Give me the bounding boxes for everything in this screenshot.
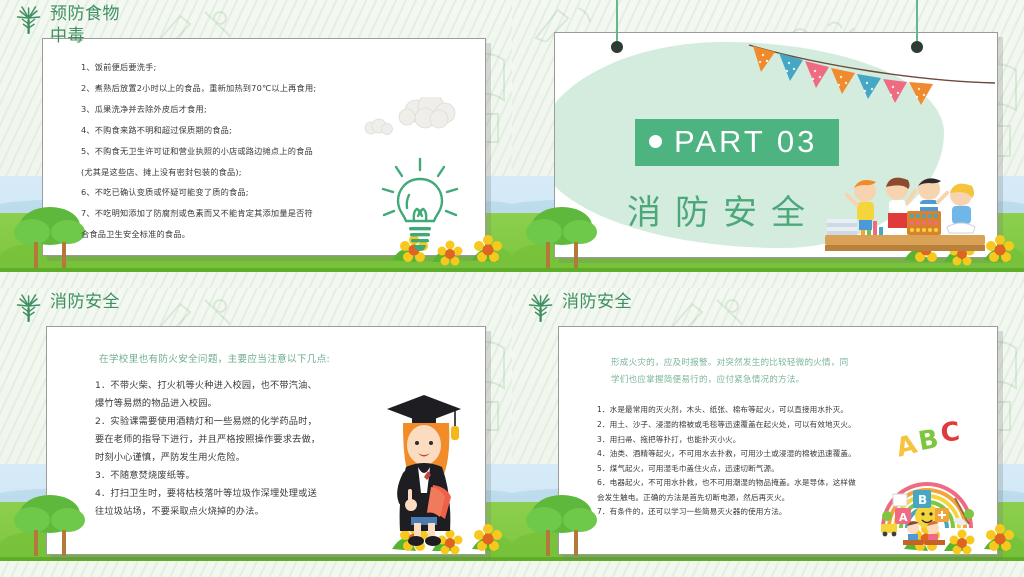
paragraph-line: 2．实验课需要使用酒精灯和一些易燃的化学药品时， — [95, 413, 375, 431]
slide-part-03[interactable]: PART 03 消防安全 — [512, 0, 1024, 288]
slide-fire-safety-school[interactable]: 消防安全 — [0, 288, 512, 577]
bunting-icon — [747, 39, 997, 111]
part-label: PART 03 — [674, 126, 817, 157]
page-title-label: 消防安全 — [562, 292, 632, 314]
tree-icon — [16, 294, 42, 324]
tree-illustration-icon — [522, 202, 602, 272]
paragraph-line: 6．电器起火，不可用水扑救，也不可用潮湿的物品掩盖。水是导体，这样做 — [597, 476, 971, 491]
paragraph-line: 5．煤气起火，可用湿毛巾盖住火点，迅速切断气源。 — [597, 462, 971, 477]
part-badge: PART 03 — [635, 119, 839, 166]
page-title: 预防食物中毒 — [16, 4, 136, 48]
list-item: 5、不购食无卫生许可证和营业执照的小店或路边摊点上的食品 — [81, 141, 459, 162]
list-item: 6、不吃已确认变质或怀疑可能变了质的食品; — [81, 182, 459, 203]
hanger-pin-icon — [916, 0, 918, 44]
tree-icon — [528, 294, 554, 324]
fire-safety-paragraphs: 1．不带火柴、打火机等火种进入校园，也不带汽油、 爆竹等易燃的物品进入校园。 2… — [47, 365, 485, 521]
paragraph-line: 会发生触电。正确的方法是首先切断电源，然后再灭火。 — [597, 491, 971, 506]
paragraph-line: 时刻小心谨慎，严防发生用火危险。 — [95, 449, 375, 467]
page-title-label: 消防安全 — [50, 292, 120, 314]
page-title-label: 预防食物中毒 — [50, 4, 136, 48]
lead-text: 在学校里也有防火安全问题，主要应当注意以下几点: — [47, 327, 485, 365]
slide-food-poisoning[interactable]: 预防食物中毒 — [0, 0, 512, 288]
hanger-pin-icon — [616, 0, 618, 44]
part-title: 消防安全 — [627, 185, 819, 234]
slide-grid: 预防食物中毒 — [0, 0, 1024, 577]
fire-emergency-paragraphs: 1．水是最常用的灭火剂，木头、纸张、棉布等起火，可以直接用水扑灭。 2．用土、沙… — [559, 389, 997, 520]
list-item: 合食品卫生安全标准的食品。 — [81, 224, 459, 245]
paragraph-line: 往垃圾站场，不要采取点火烧掉的办法。 — [95, 503, 375, 521]
slide-fire-emergency[interactable]: 消防安全 A B C — [512, 288, 1024, 577]
page-title: 消防安全 — [528, 292, 632, 324]
list-item: 7、不吃明知添加了防腐剂或色素而又不能肯定其添加量是否符 — [81, 203, 459, 224]
paragraph-line: 4．打扫卫生时，要将枯枝落叶等垃圾作深埋处理或送 — [95, 485, 375, 503]
tree-icon — [16, 6, 42, 36]
content-card: PART 03 消防安全 — [554, 32, 998, 258]
paragraph-line: 4．油类、酒精等起火，不可用水去扑救，可用沙土或浸湿的棉被迅速覆盖。 — [597, 447, 971, 462]
list-item: (尤其是这些店、摊上没有密封包装的食品); — [81, 162, 459, 183]
content-card: 在学校里也有防火安全问题，主要应当注意以下几点: 1．不带火柴、打火机等火种进入… — [46, 326, 486, 555]
paragraph-line: 2．用土、沙子、浸湿的棉被或毛毯等迅速覆盖在起火处，可以有效地灭火。 — [597, 418, 971, 433]
page-title: 消防安全 — [16, 292, 120, 324]
paragraph-line: 爆竹等易燃的物品进入校园。 — [95, 395, 375, 413]
paragraph-line: 3．不随意焚烧废纸等。 — [95, 467, 375, 485]
content-card: A B C B A — [558, 326, 998, 555]
lead-line: 形成火灾的，应及时报警。对突然发生的比较轻微的火情，同 — [611, 355, 953, 372]
bullet-dot-icon — [649, 135, 662, 148]
list-item: 2、煮熟后放置2小时以上的食品，重新加热到70℃以上再食用; — [81, 78, 459, 99]
kids-desk-icon — [819, 165, 991, 257]
list-item: 3、瓜果洗净并去除外皮后才食用; — [81, 99, 459, 120]
list-item: 1、饭前便后要洗手; — [81, 57, 459, 78]
food-safety-list: 1、饭前便后要洗手; 2、煮熟后放置2小时以上的食品，重新加热到70℃以上再食用… — [43, 39, 485, 245]
paragraph-line: 要在老师的指导下进行，并且严格按照操作要求去做， — [95, 431, 375, 449]
paragraph-line: 1．水是最常用的灭火剂，木头、纸张、棉布等起火，可以直接用水扑灭。 — [597, 403, 971, 418]
content-card: 1、饭前便后要洗手; 2、煮熟后放置2小时以上的食品，重新加热到70℃以上再食用… — [42, 38, 486, 256]
list-item: 4、不购食来路不明和超过保质期的食品; — [81, 120, 459, 141]
lead-text: 形成火灾的，应及时报警。对突然发生的比较轻微的火情，同 学们也应掌握简便易行的，… — [559, 327, 997, 389]
paragraph-line: 7．有条件的，还可以学习一些简易灭火器的使用方法。 — [597, 505, 971, 520]
paragraph-line: 3．用扫帚、拖把等扑打，也能扑灭小火。 — [597, 433, 971, 448]
lead-line: 学们也应掌握简便易行的，应付紧急情况的方法。 — [611, 372, 953, 389]
paragraph-line: 1．不带火柴、打火机等火种进入校园，也不带汽油、 — [95, 377, 375, 395]
